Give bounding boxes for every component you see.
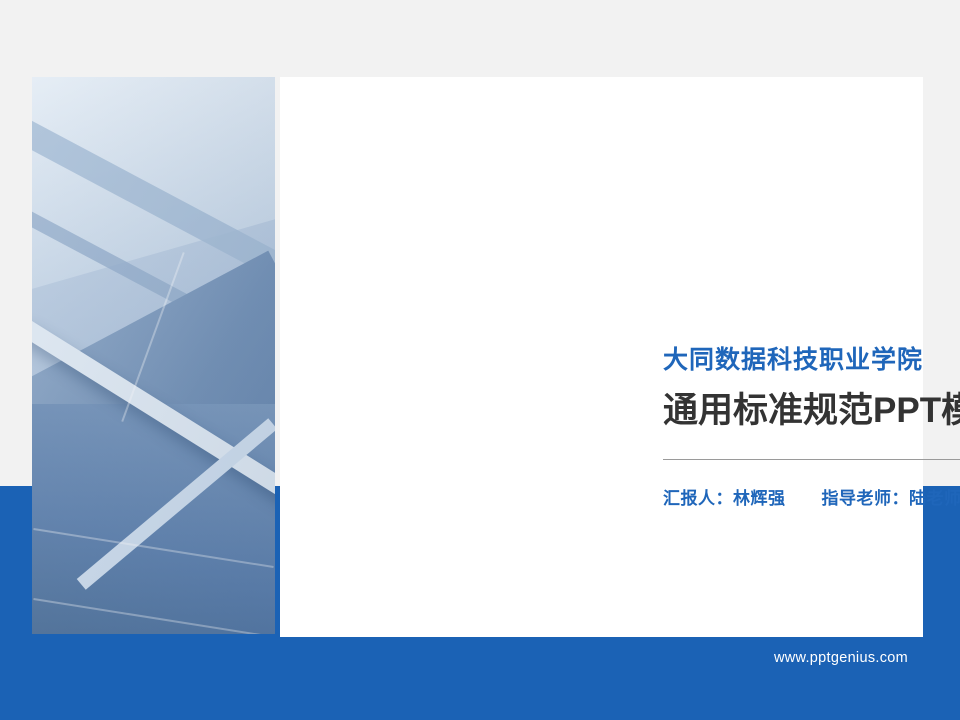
cover-photo — [32, 77, 275, 634]
advisor-label: 指导老师：陆老师 — [822, 484, 960, 509]
photo-shading-overlay — [32, 77, 275, 634]
meta-row: 汇报人：林辉强 指导老师：陆老师 — [663, 484, 960, 509]
title-divider — [663, 459, 960, 460]
presentation-slide: CHUANZHI VOCATIONAL COLLEGE ·传智教育· 大同数据科… — [0, 0, 960, 720]
presenter-label: 汇报人：林辉强 — [663, 484, 786, 509]
title-text-block: 大同数据科技职业学院 通用标准规范PPT模板 汇报人：林辉强 指导老师：陆老师 — [663, 345, 960, 509]
school-name: 大同数据科技职业学院 — [663, 345, 960, 375]
content-card: CHUANZHI VOCATIONAL COLLEGE ·传智教育· 大同数据科… — [280, 77, 923, 637]
page-title: 通用标准规范PPT模板 — [663, 389, 960, 433]
website-url[interactable]: www.pptgenius.com — [774, 650, 908, 666]
